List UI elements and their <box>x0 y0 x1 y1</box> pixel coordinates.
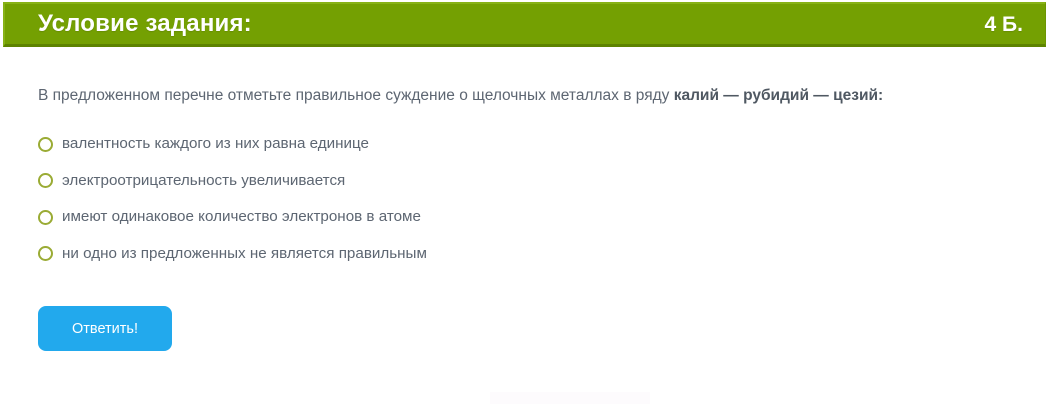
option-row-2[interactable]: электроотрицательность увеличивается <box>38 163 1019 200</box>
question-text-part2: : <box>878 87 883 104</box>
question-text: В предложенном перечне отметьте правильн… <box>38 84 998 108</box>
radio-unchecked-icon[interactable] <box>38 210 53 225</box>
submit-area: Ответить! <box>38 306 1019 351</box>
task-widget: Условие задания: 4 Б. В предложенном пер… <box>0 0 1049 420</box>
options-list: валентность каждого из них равна единице… <box>38 126 1019 272</box>
task-header: Условие задания: 4 Б. <box>3 2 1046 47</box>
radio-unchecked-icon[interactable] <box>38 137 53 152</box>
page-title: Условие задания: <box>38 12 252 36</box>
radio-unchecked-icon[interactable] <box>38 246 53 261</box>
task-body: В предложенном перечне отметьте правильн… <box>0 50 1049 420</box>
option-label-4: ни одно из предложенных не является прав… <box>62 245 427 263</box>
submit-answer-button[interactable]: Ответить! <box>38 306 172 351</box>
points-badge: 4 Б. <box>985 14 1023 35</box>
question-text-highlight: калий — рубидий — цезий <box>674 87 878 104</box>
option-row-1[interactable]: валентность каждого из них равна единице <box>38 126 1019 163</box>
option-row-4[interactable]: ни одно из предложенных не является прав… <box>38 236 1019 273</box>
option-label-3: имеют одинаковое количество электронов в… <box>62 208 421 226</box>
question-text-part1: В предложенном перечне отметьте правильн… <box>38 87 674 104</box>
option-label-1: валентность каждого из них равна единице <box>62 135 369 153</box>
option-row-3[interactable]: имеют одинаковое количество электронов в… <box>38 199 1019 236</box>
option-label-2: электроотрицательность увеличивается <box>62 172 345 190</box>
radio-unchecked-icon[interactable] <box>38 173 53 188</box>
